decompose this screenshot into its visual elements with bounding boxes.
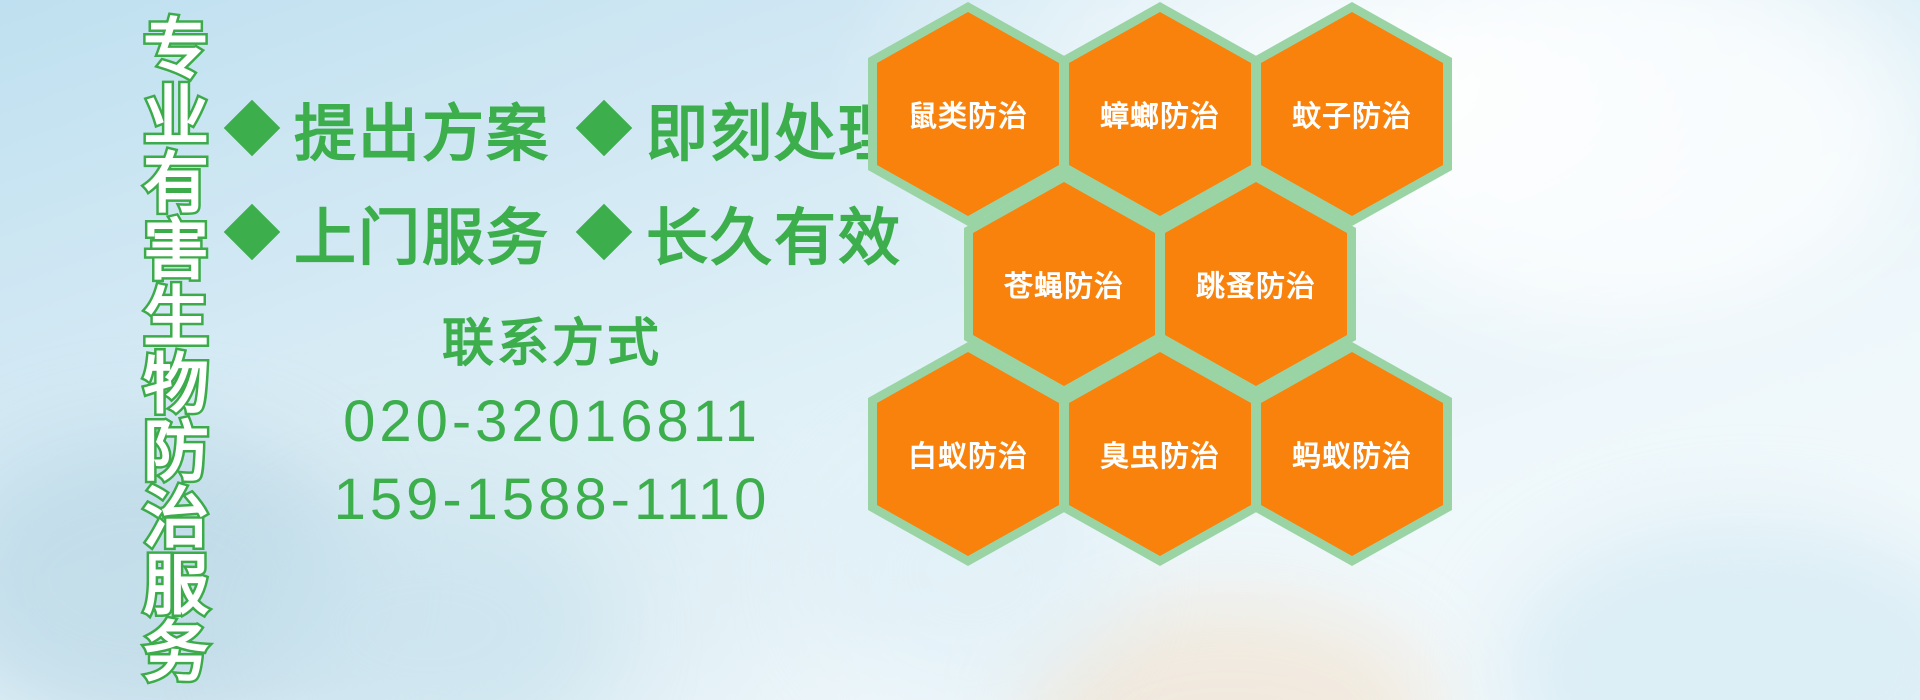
- service-honeycomb: 鼠类防治 蟑螂防治 蚊子防治 苍蝇防治 跳蚤防治 白蚁防治: [858, 0, 1458, 556]
- hexagon-inner: 臭虫防治: [1069, 352, 1251, 556]
- contact-block: 联系方式 020-32016811 159-1588-1110: [232, 312, 872, 540]
- hexagon-inner: 白蚁防治: [877, 352, 1059, 556]
- phone-number-landline[interactable]: 020-32016811: [232, 383, 872, 461]
- service-label: 苍蝇防治: [1004, 263, 1124, 305]
- slogan-row: 上门服务 长久有效: [232, 180, 872, 284]
- diamond-icon: [224, 204, 281, 261]
- slogan-item-label: 上门服务: [294, 187, 550, 277]
- service-label: 臭虫防治: [1100, 433, 1220, 475]
- hexagon-inner: 跳蚤防治: [1165, 182, 1347, 386]
- hexagon-inner: 蚂蚁防治: [1261, 352, 1443, 556]
- hexagon-inner: 蟑螂防治: [1069, 12, 1251, 216]
- background-blur-blob: [1020, 600, 1440, 700]
- slogan-item-label: 提出方案: [294, 83, 550, 173]
- phone-number-mobile[interactable]: 159-1588-1110: [232, 461, 872, 539]
- service-label: 蟑螂防治: [1100, 93, 1220, 135]
- slogan-list: 提出方案 即刻处理 上门服务 长久有效: [232, 76, 872, 284]
- diamond-icon: [576, 100, 633, 157]
- contact-title: 联系方式: [232, 312, 872, 377]
- pest-control-banner: 专业有害生物防治服务 提出方案 即刻处理 上门服务 长久有效 联系方式 020-…: [0, 0, 1920, 700]
- hexagon-inner: 鼠类防治: [877, 12, 1059, 216]
- service-label: 跳蚤防治: [1196, 263, 1316, 305]
- hexagon-inner: 蚊子防治: [1261, 12, 1443, 216]
- diamond-icon: [224, 100, 281, 157]
- diamond-icon: [576, 204, 633, 261]
- vertical-headline: 专业有害生物防治服务: [108, 14, 204, 554]
- service-label: 蚂蚁防治: [1292, 433, 1412, 475]
- service-label: 鼠类防治: [908, 93, 1028, 135]
- slogan-row: 提出方案 即刻处理: [232, 76, 872, 180]
- background-blur-blob: [1500, 520, 1920, 700]
- hexagon-inner: 苍蝇防治: [973, 182, 1155, 386]
- service-label: 蚊子防治: [1292, 93, 1412, 135]
- service-label: 白蚁防治: [908, 433, 1028, 475]
